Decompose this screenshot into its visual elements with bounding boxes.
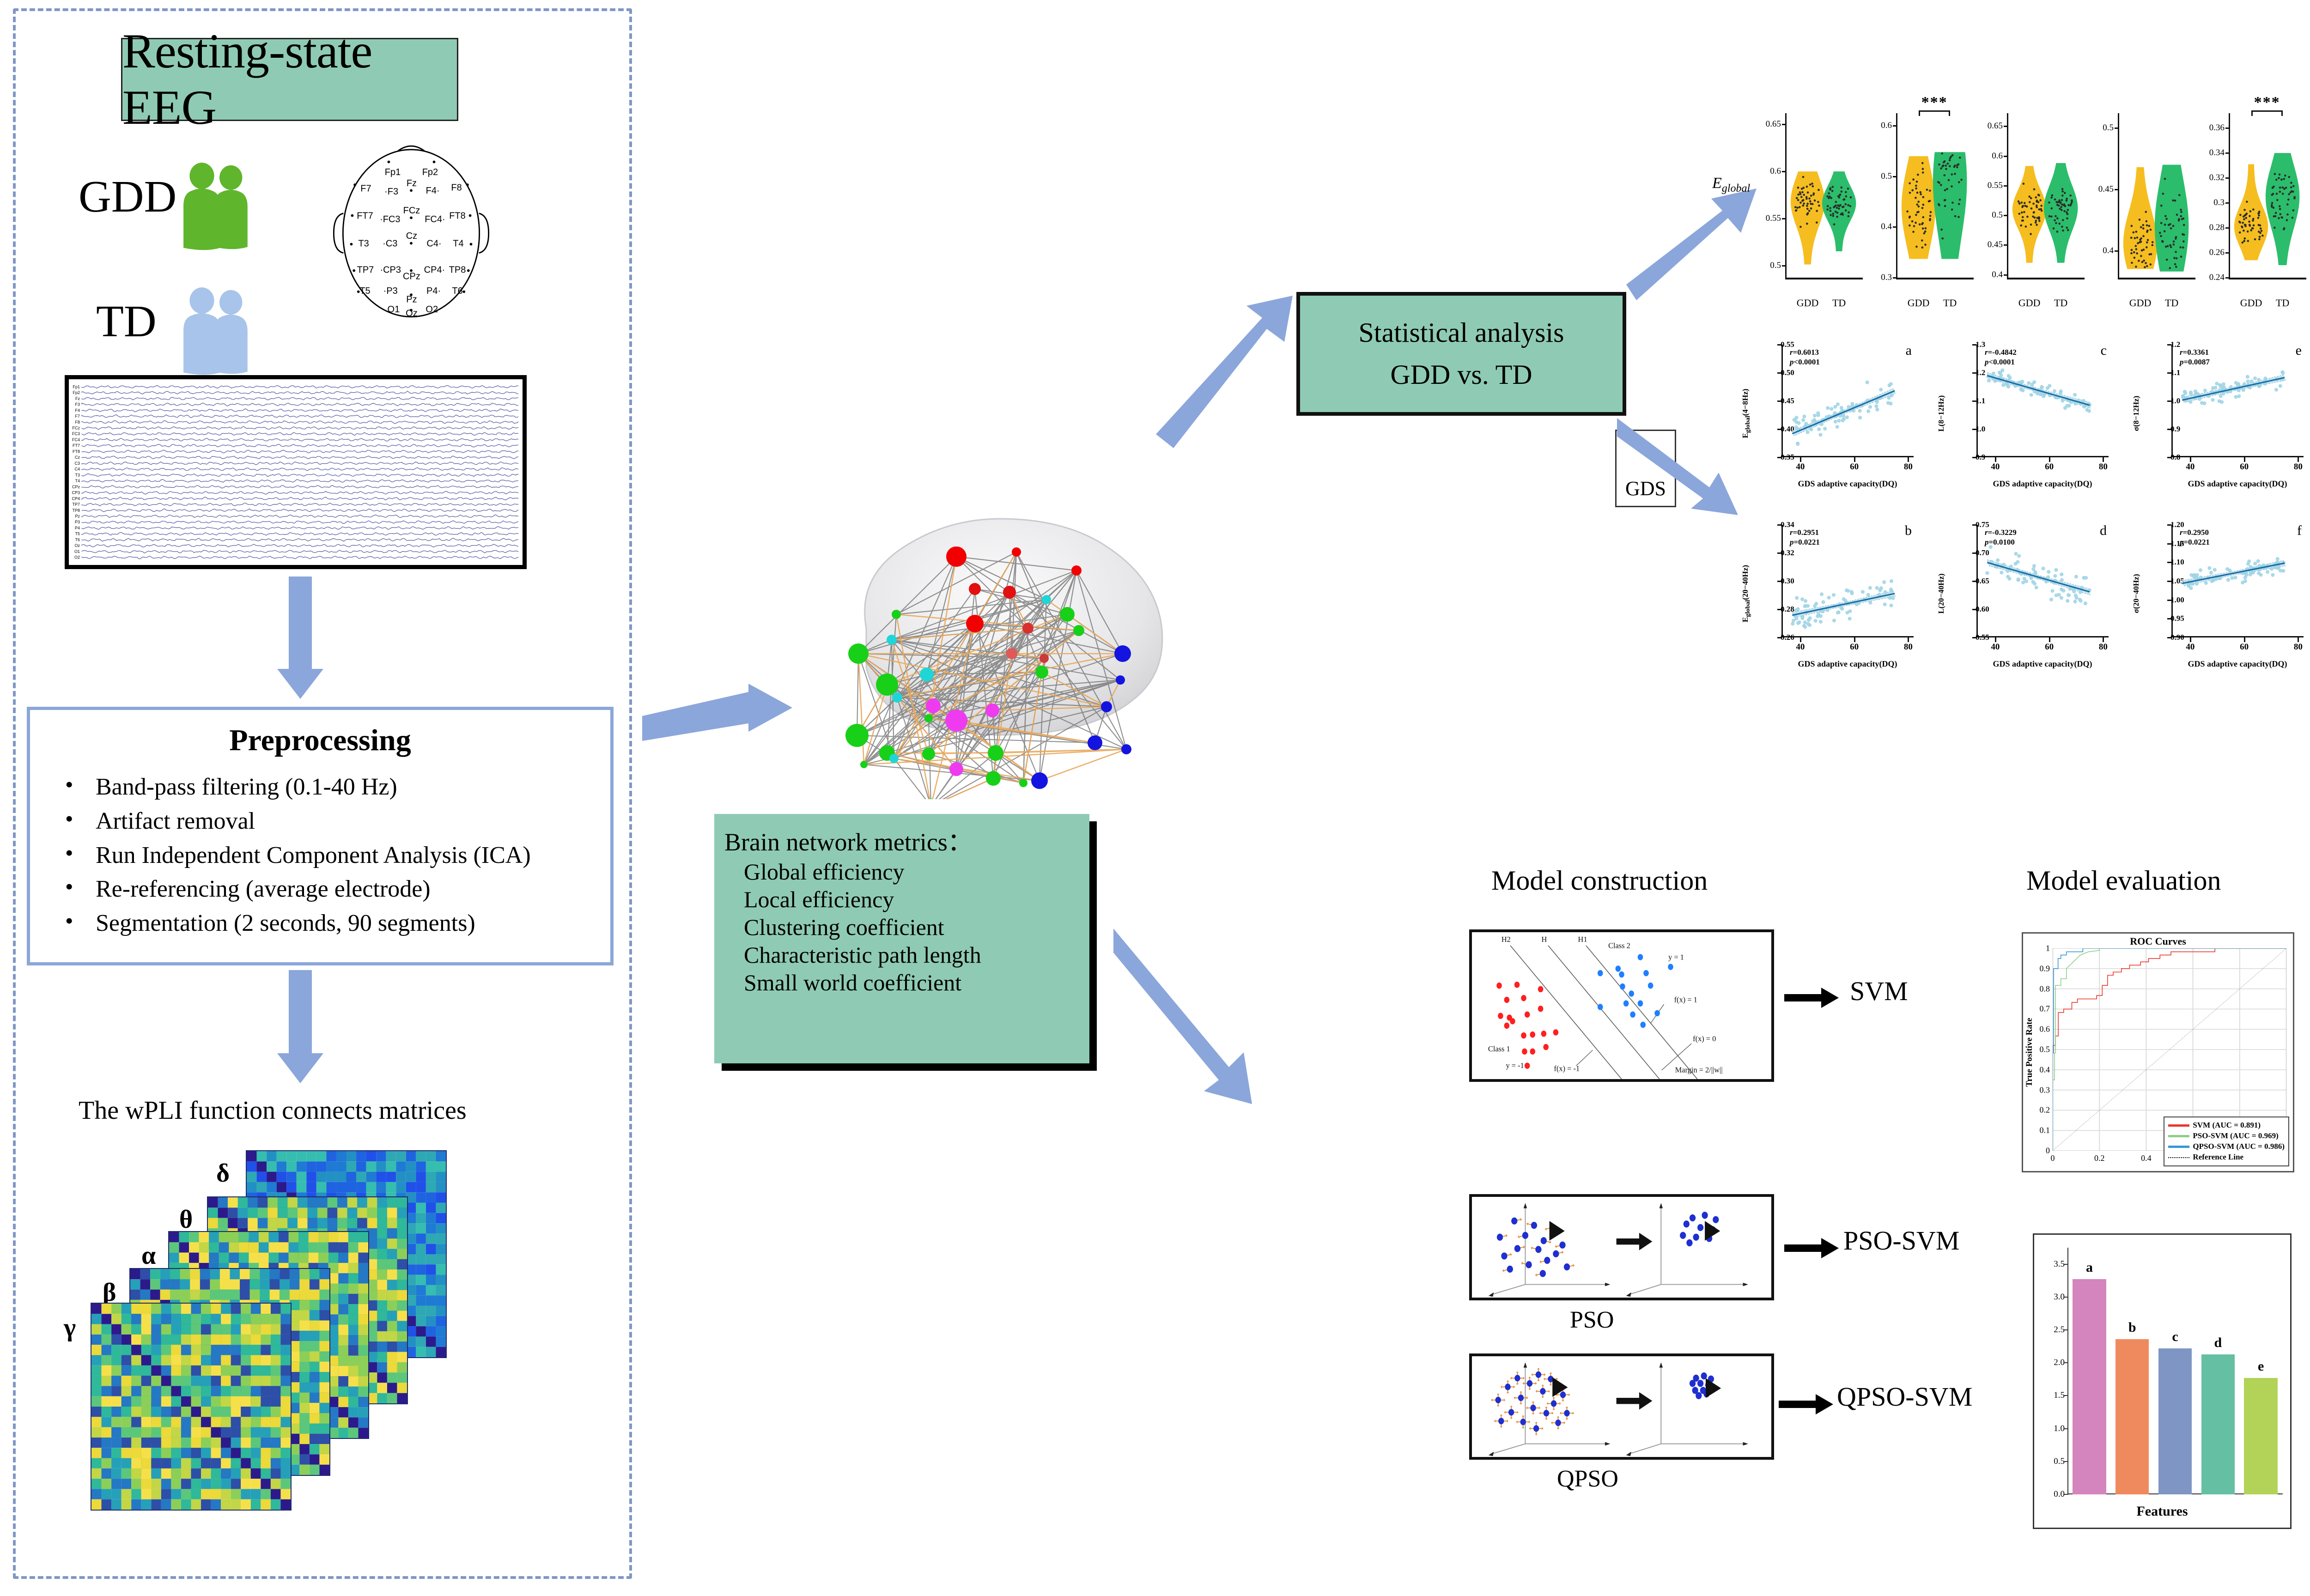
- bar-y-tick: 0.5: [2054, 1456, 2065, 1467]
- legend-swatch: [2168, 1146, 2189, 1148]
- svg-text:P4: P4: [75, 526, 80, 530]
- svg-text:P4·: P4·: [426, 286, 441, 296]
- svg-text:CP3: CP3: [72, 491, 80, 495]
- svg-text:FCz: FCz: [73, 426, 80, 431]
- roc-x-tick: 0.4: [2141, 1153, 2152, 1163]
- svg-text:y = -1: y = -1: [1506, 1061, 1524, 1070]
- svg-text:O1: O1: [388, 304, 400, 315]
- roc-y-tick: 0.1: [2040, 1126, 2050, 1135]
- preprocessing-box: Preprocessing Band-pass filtering (0.1-4…: [27, 707, 614, 965]
- violin-panel-2: 0.30.40.50.6GDDTD***: [1871, 99, 1974, 293]
- bar-label-c: c: [2172, 1329, 2178, 1345]
- svg-text:Class 2: Class 2: [1608, 941, 1630, 950]
- bar-plot-area: 0.00.51.01.52.02.53.03.5abcde: [2068, 1248, 2283, 1494]
- arrow-to-model-construction: [1113, 928, 1307, 1123]
- svg-text:FCz: FCz: [403, 206, 420, 216]
- svg-text:Class 1: Class 1: [1488, 1044, 1510, 1053]
- roc-y-tick: 0.9: [2040, 964, 2050, 973]
- legend-label: SVM (AUC = 0.891): [2193, 1120, 2261, 1131]
- svg-text:FT8: FT8: [73, 449, 80, 454]
- list-item: Segmentation (2 seconds, 90 segments): [62, 906, 596, 941]
- y-axis-label: σ(20−40Hz): [2132, 547, 2141, 640]
- roc-y-tick: 0.7: [2040, 1004, 2050, 1014]
- wpli-caption: The wPLI function connects matrices: [79, 1096, 467, 1125]
- roc-y-tick: 0: [2046, 1146, 2050, 1156]
- scatter-panel-e: σ(8−12Hz)GDS adaptive capacity(DQ)er=0.3…: [2132, 337, 2310, 490]
- x-axis-label: GDS adaptive capacity(DQ): [1781, 659, 1914, 669]
- roc-y-tick: 0.6: [2040, 1025, 2050, 1034]
- wpli-matrix-stack: δ θ α β γ: [83, 1146, 499, 1529]
- svm-diagram-box: H2HH1 Class 2Class 1 y = 1y = -1 f(x) = …: [1469, 929, 1774, 1082]
- roc-y-tick: 0.8: [2040, 984, 2050, 994]
- legend-swatch: [2168, 1124, 2189, 1127]
- metric-item-local-efficiency: Local efficiency: [744, 886, 1089, 913]
- bar-y-tick: 1.5: [2054, 1390, 2065, 1401]
- feature-importance-bar-chart: 0.00.51.01.52.02.53.03.5abcde Features: [2033, 1233, 2292, 1529]
- arrow-to-statistical-analysis: [1146, 296, 1303, 448]
- svg-text:·F3: ·F3: [384, 187, 398, 197]
- scatter-panel-d: L(20−40Hz)GDS adaptive capacity(DQ)dr=-0…: [1937, 517, 2117, 670]
- y-axis-label: L(8−12Hz): [1937, 367, 1946, 460]
- svg-text:CP4·: CP4·: [424, 265, 445, 275]
- legend-label: PSO-SVM (AUC = 0.969): [2193, 1131, 2278, 1141]
- people-icon-td: [176, 286, 263, 379]
- svg-text:Margin = 2/||w||: Margin = 2/||w||: [1675, 1066, 1723, 1074]
- svg-text:O2: O2: [74, 555, 80, 560]
- arrow-to-svm-label: [1784, 984, 1840, 1012]
- svg-text:CPz: CPz: [403, 272, 420, 282]
- svg-text:Fp1: Fp1: [73, 384, 80, 389]
- wpli-matrix-gamma: [91, 1303, 292, 1511]
- arrow-traces-to-preprocessing: [275, 577, 326, 701]
- svg-text:FC4·: FC4·: [425, 214, 445, 225]
- preprocessing-title: Preprocessing: [44, 723, 596, 758]
- plot-area: [2171, 345, 2304, 457]
- arrow-to-qpso-svm-label: [1779, 1390, 1834, 1418]
- violin-panel-3: 0.40.450.50.550.60.65GDDTD: [1982, 99, 2085, 293]
- arrow-to-brain-network: [642, 684, 795, 748]
- svg-text:F4: F4: [75, 408, 80, 413]
- metric-item-characteristic-path-length: Characteristic path length: [744, 941, 1089, 969]
- x-axis-label: GDS adaptive capacity(DQ): [1781, 479, 1914, 489]
- svg-text:T4: T4: [75, 479, 80, 483]
- eglobal-axis-label: Eglobal: [1712, 175, 1750, 195]
- svg-text:F8: F8: [451, 182, 462, 193]
- qpso-diagram-box: [1469, 1353, 1774, 1460]
- brain-network-metrics-box: Brain network metrics： Global efficiency…: [714, 814, 1089, 1063]
- svg-text:Fz: Fz: [75, 396, 80, 401]
- svg-text:TP7: TP7: [357, 265, 374, 275]
- svg-text:C3: C3: [74, 461, 80, 466]
- svg-text:T3: T3: [75, 473, 80, 477]
- y-axis-label: L(20−40Hz): [1937, 547, 1946, 640]
- metrics-header: Brain network metrics：: [724, 821, 1089, 858]
- violin-panel-5: 0.240.260.280.30.320.340.36GDDTD***: [2204, 99, 2306, 293]
- svg-text:C4·: C4·: [426, 238, 441, 249]
- legend-label: Reference Line: [2193, 1152, 2243, 1163]
- svg-text:·C3: ·C3: [383, 238, 397, 249]
- svg-text:F4·: F4·: [426, 186, 440, 196]
- svg-text:C4: C4: [74, 467, 80, 472]
- violin-td: [2093, 99, 2195, 293]
- svg-text:T5: T5: [75, 532, 80, 536]
- svg-text:T6: T6: [452, 286, 462, 296]
- roc-legend-item: SVM (AUC = 0.891): [2168, 1120, 2285, 1131]
- wpli-band-label-delta: δ: [216, 1159, 230, 1188]
- svg-text:Fp2: Fp2: [73, 390, 80, 395]
- roc-legend-item: QPSO-SVM (AUC = 0.986): [2168, 1141, 2285, 1152]
- qpso-svm-output-label: QPSO-SVM: [1837, 1381, 1972, 1412]
- roc-legend-item: Reference Line: [2168, 1152, 2285, 1163]
- svg-text:H1: H1: [1578, 935, 1587, 944]
- roc-legend: SVM (AUC = 0.891)PSO-SVM (AUC = 0.969)QP…: [2164, 1117, 2289, 1166]
- metric-item-global-efficiency: Global efficiency: [744, 858, 1089, 886]
- bar-b: [2115, 1339, 2149, 1494]
- statistical-analysis-line2: GDD vs. TD: [1390, 359, 1532, 391]
- bar-d: [2201, 1354, 2235, 1494]
- roc-y-tick: 0.4: [2040, 1065, 2050, 1074]
- svg-text:O1: O1: [74, 549, 80, 554]
- roc-y-tick: 0.5: [2040, 1045, 2050, 1055]
- svg-text:FT7: FT7: [73, 443, 80, 448]
- statistical-analysis-line1: Statistical analysis: [1359, 317, 1564, 349]
- svg-text:TP8: TP8: [72, 508, 80, 513]
- svg-text:f(x) = 1: f(x) = 1: [1674, 995, 1697, 1004]
- roc-y-tick: 0.3: [2040, 1085, 2050, 1095]
- bar-y-tick: 0.0: [2054, 1489, 2065, 1499]
- violin-td: [1871, 99, 1974, 293]
- preprocessing-step-list: Band-pass filtering (0.1-40 Hz) Artifact…: [44, 770, 596, 941]
- group-label-gdd: GDD: [79, 171, 176, 223]
- violin-td: [2204, 99, 2306, 293]
- qpso-caption: QPSO: [1557, 1465, 1618, 1493]
- x-axis-label: GDS adaptive capacity(DQ): [2171, 659, 2304, 669]
- svg-text:T6: T6: [75, 537, 80, 542]
- pso-caption: PSO: [1570, 1306, 1614, 1334]
- bar-y-tick: 3.5: [2054, 1259, 2065, 1269]
- list-item: Artifact removal: [62, 804, 596, 838]
- roc-y-tick: 1: [2046, 944, 2050, 953]
- x-axis-label: GDS adaptive capacity(DQ): [1976, 659, 2109, 669]
- bar-a: [2073, 1279, 2106, 1494]
- list-item: Re-referencing (average electrode): [62, 872, 596, 906]
- violin-panel-4: 0.40.450.5GDDTD: [2093, 99, 2195, 293]
- svg-text:F7: F7: [360, 183, 371, 194]
- svg-text:FT7: FT7: [357, 211, 373, 221]
- legend-label: QPSO-SVM (AUC = 0.986): [2193, 1141, 2285, 1152]
- correlation-scatter-grid: Eglobal(4−8Hz)GDS adaptive capacity(DQ)a…: [1742, 337, 2310, 684]
- metric-item-clustering-coefficient: Clustering coefficient: [744, 913, 1089, 941]
- wpli-band-label-alpha: α: [141, 1241, 156, 1270]
- wpli-band-label-theta: θ: [179, 1205, 193, 1234]
- bar-e: [2244, 1378, 2277, 1494]
- svg-text:Fz: Fz: [407, 178, 417, 188]
- svg-text:f(x) = 0: f(x) = 0: [1693, 1034, 1716, 1043]
- plot-area: [1976, 345, 2109, 457]
- plot-area: [1781, 525, 1914, 637]
- roc-x-tick: 0.2: [2094, 1153, 2105, 1163]
- svm-output-label: SVM: [1850, 976, 1908, 1007]
- arrow-stat-to-scatter: [1617, 418, 1751, 524]
- eeg-signal-traces: Fp1Fp2FzF3F4F7F8FCzFC3FC4FT7FT8CzC3C4T3T…: [65, 375, 527, 569]
- bar-label-e: e: [2258, 1359, 2264, 1374]
- model-evaluation-title: Model evaluation: [2026, 865, 2221, 897]
- svg-text:·P3: ·P3: [383, 286, 398, 296]
- scatter-panel-b: Eglobal(20−40Hz)GDS adaptive capacity(DQ…: [1742, 517, 1922, 670]
- roc-curves-chart: ROC Curves True Positive Rate 00.10.20.3…: [2022, 932, 2294, 1172]
- bar-x-axis-label: Features: [2034, 1504, 2290, 1519]
- svg-text:y = 1: y = 1: [1668, 953, 1684, 962]
- roc-y-axis-label: True Positive Rate: [2024, 999, 2035, 1105]
- legend-swatch: [2168, 1157, 2189, 1158]
- list-item: Run Independent Component Analysis (ICA): [62, 838, 596, 873]
- bar-c: [2158, 1348, 2192, 1494]
- y-axis-label: σ(8−12Hz): [2132, 367, 2141, 460]
- bar-label-a: a: [2086, 1260, 2093, 1275]
- svg-text:H: H: [1542, 935, 1547, 944]
- statistical-analysis-box: Statistical analysis GDD vs. TD: [1296, 292, 1626, 416]
- arrow-stat-to-violins: [1626, 185, 1760, 305]
- svg-text:·CP3: ·CP3: [380, 265, 401, 275]
- scatter-panel-c: L(8−12Hz)GDS adaptive capacity(DQ)cr=-0.…: [1937, 337, 2117, 490]
- svg-text:F8: F8: [75, 420, 80, 425]
- svg-text:CP4: CP4: [72, 496, 80, 501]
- svg-text:·FC3: ·FC3: [380, 214, 400, 225]
- y-axis-label: Eglobal(20−40Hz): [1741, 547, 1752, 640]
- bar-label-b: b: [2128, 1320, 2136, 1335]
- bar-y-tick: 2.5: [2054, 1325, 2065, 1335]
- brain-network-graph: [818, 476, 1206, 799]
- bar-label-d: d: [2214, 1335, 2222, 1351]
- roc-chart-title: ROC Curves: [2023, 935, 2293, 947]
- model-construction-title: Model construction: [1491, 865, 1708, 897]
- svg-text:O2: O2: [426, 304, 438, 315]
- group-label-td: TD: [96, 296, 157, 347]
- svg-text:Oz: Oz: [74, 543, 80, 548]
- plot-area: [1781, 345, 1914, 457]
- x-axis-label: GDS adaptive capacity(DQ): [2171, 479, 2304, 489]
- svg-text:Cz: Cz: [75, 455, 80, 460]
- violin-td: [1760, 99, 1863, 293]
- svg-text:Fp1: Fp1: [385, 167, 401, 177]
- legend-swatch: [2168, 1135, 2189, 1137]
- scatter-panel-f: σ(20−40Hz)GDS adaptive capacity(DQ)fr=0.…: [2132, 517, 2310, 670]
- svg-text:TP7: TP7: [72, 502, 80, 507]
- svg-text:FC3: FC3: [72, 431, 80, 436]
- y-axis-label: Eglobal(4−8Hz): [1741, 367, 1752, 460]
- svg-text:CPz: CPz: [72, 485, 80, 489]
- svg-text:H2: H2: [1501, 935, 1511, 944]
- scatter-panel-a: Eglobal(4−8Hz)GDS adaptive capacity(DQ)a…: [1742, 337, 1922, 490]
- svg-text:T5: T5: [359, 286, 370, 296]
- svg-text:T3: T3: [358, 238, 369, 249]
- svg-text:Cz: Cz: [406, 231, 417, 241]
- bar-y-tick: 3.0: [2054, 1292, 2065, 1302]
- svg-text:Pz: Pz: [75, 514, 80, 519]
- list-item: Band-pass filtering (0.1-40 Hz): [62, 770, 596, 804]
- pso-diagram-box: [1469, 1194, 1774, 1300]
- metric-item-small-world-coefficient: Small world coefficient: [744, 969, 1089, 996]
- pso-svm-output-label: PSO-SVM: [1843, 1225, 1959, 1256]
- resting-state-eeg-title: Resting-state EEG: [122, 23, 457, 136]
- violin-plot-row: 0.50.550.60.65GDDTD0.30.40.50.6GDDTD***0…: [1760, 99, 2310, 293]
- svg-text:F3: F3: [75, 402, 80, 407]
- resting-state-eeg-title-box: Resting-state EEG: [121, 38, 458, 121]
- svg-text:FT8: FT8: [449, 211, 466, 221]
- arrow-to-pso-svm-label: [1784, 1234, 1840, 1262]
- roc-legend-item: PSO-SVM (AUC = 0.969): [2168, 1131, 2285, 1141]
- plot-area: [2171, 525, 2304, 637]
- roc-y-tick: 0.2: [2040, 1105, 2050, 1115]
- svg-text:TP8: TP8: [449, 265, 466, 275]
- arrow-preprocessing-to-wpli: [275, 970, 326, 1086]
- svg-text:T4: T4: [453, 238, 463, 249]
- wpli-band-label-gamma: γ: [64, 1313, 76, 1342]
- svg-text:FC4: FC4: [72, 437, 80, 442]
- svg-text:F7: F7: [75, 414, 80, 419]
- roc-x-tick: 0: [2051, 1153, 2055, 1163]
- eeg-montage-head-diagram: Fp1Fp2 F7·F3 FzF4·F8 FT7·FC3 FCzFC4·FT8 …: [319, 139, 504, 323]
- violin-td: [1982, 99, 2085, 293]
- plot-area: [1976, 525, 2109, 637]
- bar-y-tick: 1.0: [2054, 1424, 2065, 1434]
- x-axis-label: GDS adaptive capacity(DQ): [1976, 479, 2109, 489]
- svg-text:f(x) = -1: f(x) = -1: [1554, 1064, 1580, 1073]
- people-icon-gdd: [176, 162, 263, 254]
- violin-panel-1: 0.50.550.60.65GDDTD: [1760, 99, 1863, 293]
- bar-y-tick: 2.0: [2054, 1358, 2065, 1368]
- svg-text:P3: P3: [75, 520, 80, 524]
- svg-text:Fp2: Fp2: [422, 167, 438, 177]
